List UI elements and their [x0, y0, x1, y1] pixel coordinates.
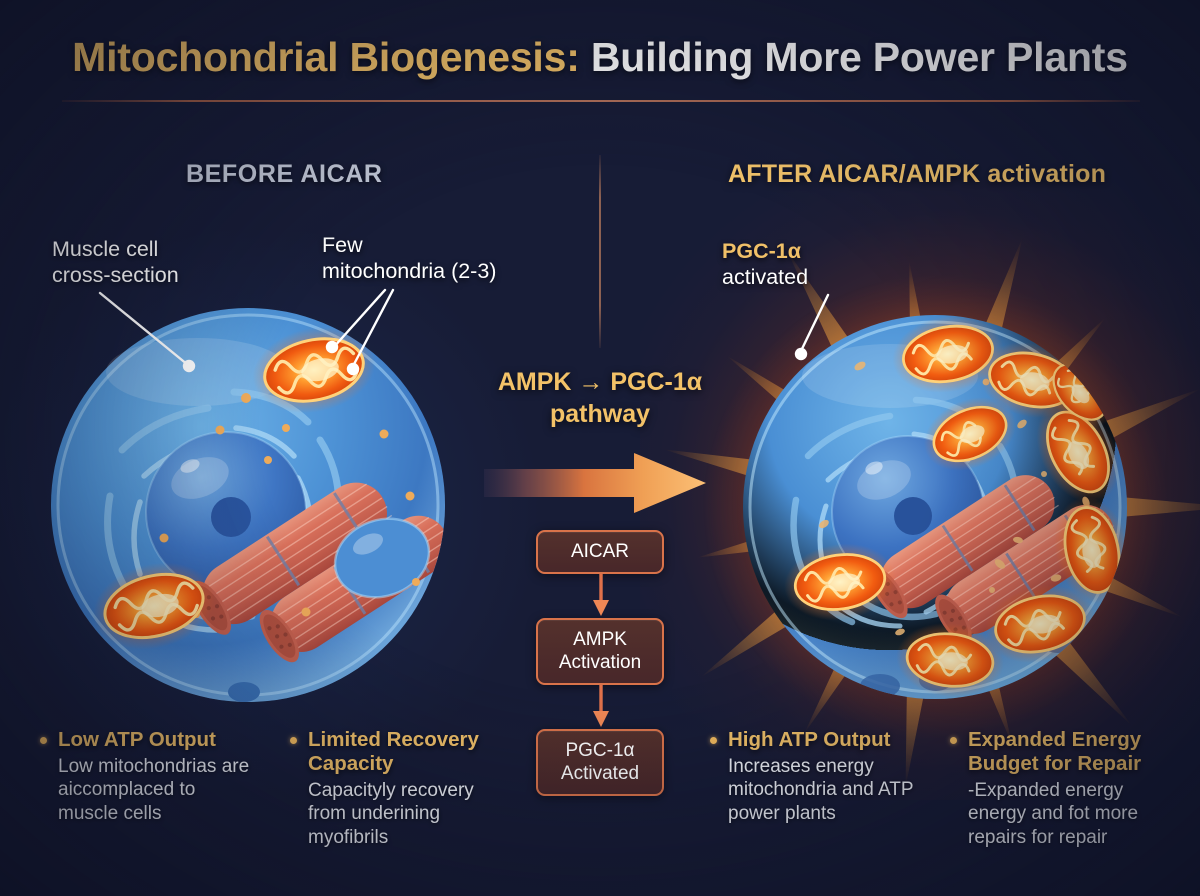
- transition-arrow-icon: [482, 452, 708, 514]
- bullet-high-atp-output: High ATP Output Increases energy mitocho…: [710, 728, 924, 825]
- section-divider: [599, 155, 601, 348]
- callout-pgc1a-key: PGC-1α: [722, 238, 808, 264]
- title-underline-rule: [62, 100, 1140, 102]
- flow-step-ampk-activation[interactable]: AMPK Activation: [536, 618, 664, 685]
- callout-pgc1a-value: activated: [722, 264, 808, 290]
- muscle-cell-after-illustration: [700, 272, 1170, 742]
- pathway-flowchart: AICAR AMPK Activation PGC-1α Activated: [536, 530, 666, 796]
- bullet-dot-icon: [710, 737, 717, 744]
- callout-muscle-cell: Muscle cell cross-section: [52, 236, 179, 288]
- infographic-canvas: Mitochondrial Biogenesis: Building More …: [0, 0, 1200, 896]
- bullet-body: -Expanded energy energy and fot more rep…: [968, 779, 1180, 850]
- page-title-secondary: Building More Power Plants: [591, 34, 1128, 80]
- muscle-cell-before-illustration: [48, 300, 448, 720]
- bullet-low-atp-output: Low ATP Output Low mitochondrias are aic…: [40, 728, 254, 825]
- callout-few-mitochondria: Few mitochondria (2-3): [322, 232, 496, 284]
- bullet-dot-icon: [40, 737, 47, 744]
- flow-connector-1: [536, 574, 666, 618]
- flow-step-aicar[interactable]: AICAR: [536, 530, 664, 574]
- bullet-heading: High ATP Output: [728, 728, 924, 752]
- page-title: Mitochondrial Biogenesis: Building More …: [0, 34, 1200, 81]
- callout-pgc1a-activated: PGC-1α activated: [722, 238, 808, 290]
- bullet-dot-icon: [950, 737, 957, 744]
- page-title-primary: Mitochondrial Biogenesis:: [72, 34, 580, 80]
- bullet-heading: Low ATP Output: [58, 728, 254, 752]
- section-label-after: AFTER AICAR/AMPK activation: [728, 160, 1106, 189]
- pathway-caption: AMPK → PGC-1α pathway: [466, 366, 734, 430]
- bullet-heading: Expanded Energy Budget for Repair: [968, 728, 1180, 776]
- bullet-body: Capacityly recovery from underining myof…: [308, 779, 504, 850]
- bullet-body: Increases energy mitochondria and ATP po…: [728, 755, 924, 826]
- section-label-before: BEFORE AICAR: [186, 160, 383, 189]
- bullet-body: Low mitochondrias are aiccomplaced to mu…: [58, 755, 254, 826]
- flow-step-pgc1a-activated[interactable]: PGC-1α Activated: [536, 729, 664, 796]
- bullet-heading: Limited Recovery Capacity: [308, 728, 504, 776]
- flow-connector-2: [536, 685, 666, 729]
- bullet-limited-recovery-capacity: Limited Recovery Capacity Capacityly rec…: [290, 728, 504, 849]
- bullet-dot-icon: [290, 737, 297, 744]
- bullet-expanded-energy-budget: Expanded Energy Budget for Repair -Expan…: [950, 728, 1180, 849]
